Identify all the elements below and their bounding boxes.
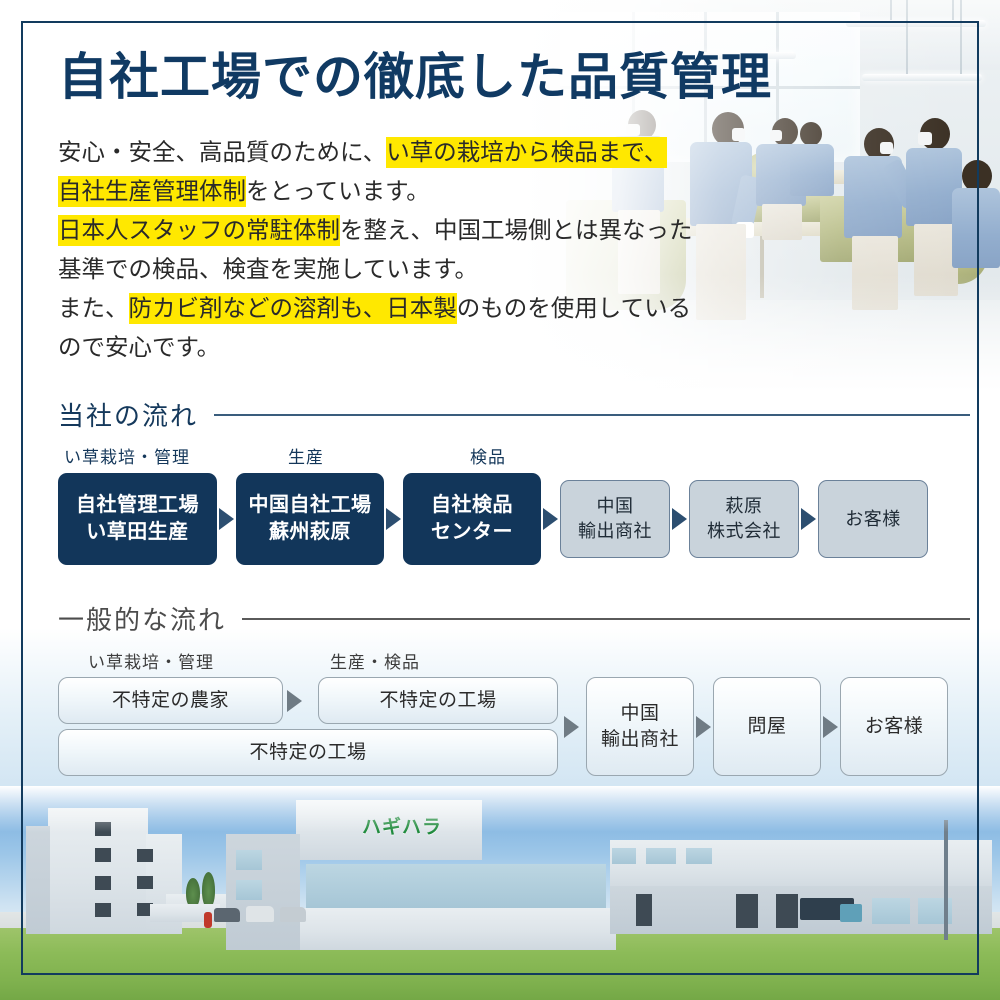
flow-node: お客様 <box>818 480 928 558</box>
flow-node: 自社管理工場 い草田生産 <box>58 473 217 565</box>
window <box>137 876 153 889</box>
intro-line: 自社生産管理体制をとっています。 <box>58 172 693 211</box>
flow-arrow-icon <box>672 508 687 530</box>
plain-text: また、 <box>58 295 129 321</box>
window <box>137 849 153 862</box>
flow-node: 中国 輸出商社 <box>586 677 694 776</box>
intro-line: 安心・安全、高品質のために、い草の栽培から検品まで、 <box>58 133 693 172</box>
highlighted-text: 自社生産管理体制 <box>58 176 246 207</box>
flow-node: 問屋 <box>713 677 821 776</box>
flow-stage-caption: 検品 <box>470 443 506 468</box>
highlighted-text: 日本人スタッフの常駐体制 <box>58 215 340 246</box>
loading-door <box>636 894 652 926</box>
intro-line: 基準での検品、検査を実施しています。 <box>58 250 693 289</box>
utility-pole <box>944 820 948 940</box>
parked-car <box>214 908 240 922</box>
flow-node: 不特定の農家 <box>58 677 283 724</box>
parked-car <box>246 906 274 922</box>
window <box>236 850 262 870</box>
flow-diagram-general: い草栽培・管理生産・検品不特定の農家不特定の工場不特定の工場中国 輸出商社問屋お… <box>58 648 970 770</box>
flow-node: 自社検品 センター <box>403 473 541 565</box>
window <box>95 876 111 890</box>
intro-paragraph: 安心・安全、高品質のために、い草の栽培から検品まで、自社生産管理体制をとっていま… <box>58 133 693 367</box>
flow-arrow-icon <box>696 716 711 738</box>
plain-text: をとっています。 <box>246 178 430 204</box>
highlighted-text: い草の栽培から検品まで、 <box>386 137 667 168</box>
window <box>95 903 111 917</box>
window <box>686 848 712 864</box>
tree <box>202 872 215 908</box>
window <box>95 848 111 862</box>
plain-text: 基準での検品、検査を実施しています。 <box>58 256 478 282</box>
flow-arrow-icon <box>219 508 234 530</box>
window <box>872 898 910 924</box>
flow-stage-caption: い草栽培・管理 <box>64 443 190 468</box>
photo-top-blend <box>0 786 1000 832</box>
intro-line: 日本人スタッフの常駐体制を整え、中国工場側とは異なった <box>58 211 693 250</box>
flow-diagram-ours: い草栽培・管理生産検品自社管理工場 い草田生産中国自社工場 蘇州萩原自社検品 セ… <box>58 443 970 565</box>
flow-node: 不特定の工場 <box>318 677 558 724</box>
highlighted-text: 日本製 <box>386 293 457 324</box>
flow-node: 不特定の工場 <box>58 729 558 776</box>
flow-node: お客様 <box>840 677 948 776</box>
plain-text: のものを使用している <box>457 295 691 321</box>
flow-node: 中国 輸出商社 <box>560 480 670 558</box>
flow-arrow-icon <box>543 508 558 530</box>
factory-glass-band <box>306 864 606 908</box>
loading-door <box>736 894 758 928</box>
flow-arrow-icon <box>801 508 816 530</box>
factory-entrance <box>296 908 616 950</box>
window <box>612 848 636 864</box>
plain-text: を整え、中国工場側とは異なった <box>340 217 693 243</box>
heading-rule <box>214 414 970 416</box>
window <box>646 848 676 864</box>
flow-arrow-icon <box>564 716 579 738</box>
flow-stage-caption: 生産・検品 <box>330 648 420 673</box>
section-heading-general: 一般的な流れ <box>58 600 970 637</box>
flow-arrow-icon <box>287 690 302 712</box>
section-title-general: 一般的な流れ <box>58 600 226 637</box>
intro-line: ので安心です。 <box>58 328 693 367</box>
flow-arrow-icon <box>823 716 838 738</box>
plain-text: ので安心です。 <box>58 334 220 360</box>
intro-line: また、防カビ剤などの溶剤も、日本製のものを使用している <box>58 289 693 328</box>
flow-node: 萩原 株式会社 <box>689 480 799 558</box>
plain-text: 安心・安全、高品質のために、 <box>58 139 386 165</box>
truck-cab <box>840 904 862 922</box>
page-title: 自社工場での徹底した品質管理 <box>58 50 772 105</box>
office-building-side <box>26 826 50 934</box>
highlighted-text: 防カビ剤などの溶剤も、 <box>129 293 387 324</box>
flow-arrow-icon <box>386 508 401 530</box>
fire-hydrant <box>204 912 212 928</box>
section-heading-ours: 当社の流れ <box>58 396 970 433</box>
loading-door <box>776 894 798 928</box>
section-title-ours: 当社の流れ <box>58 396 198 433</box>
flow-stage-caption: い草栽培・管理 <box>88 648 214 673</box>
flow-stage-caption: 生産 <box>288 443 324 468</box>
parked-car <box>280 907 306 922</box>
infographic-page: 自社工場での徹底した品質管理 安心・安全、高品質のために、い草の栽培から検品まで… <box>0 0 1000 1000</box>
heading-rule <box>242 618 970 620</box>
flow-node: 中国自社工場 蘇州萩原 <box>236 473 384 565</box>
window <box>236 880 262 900</box>
